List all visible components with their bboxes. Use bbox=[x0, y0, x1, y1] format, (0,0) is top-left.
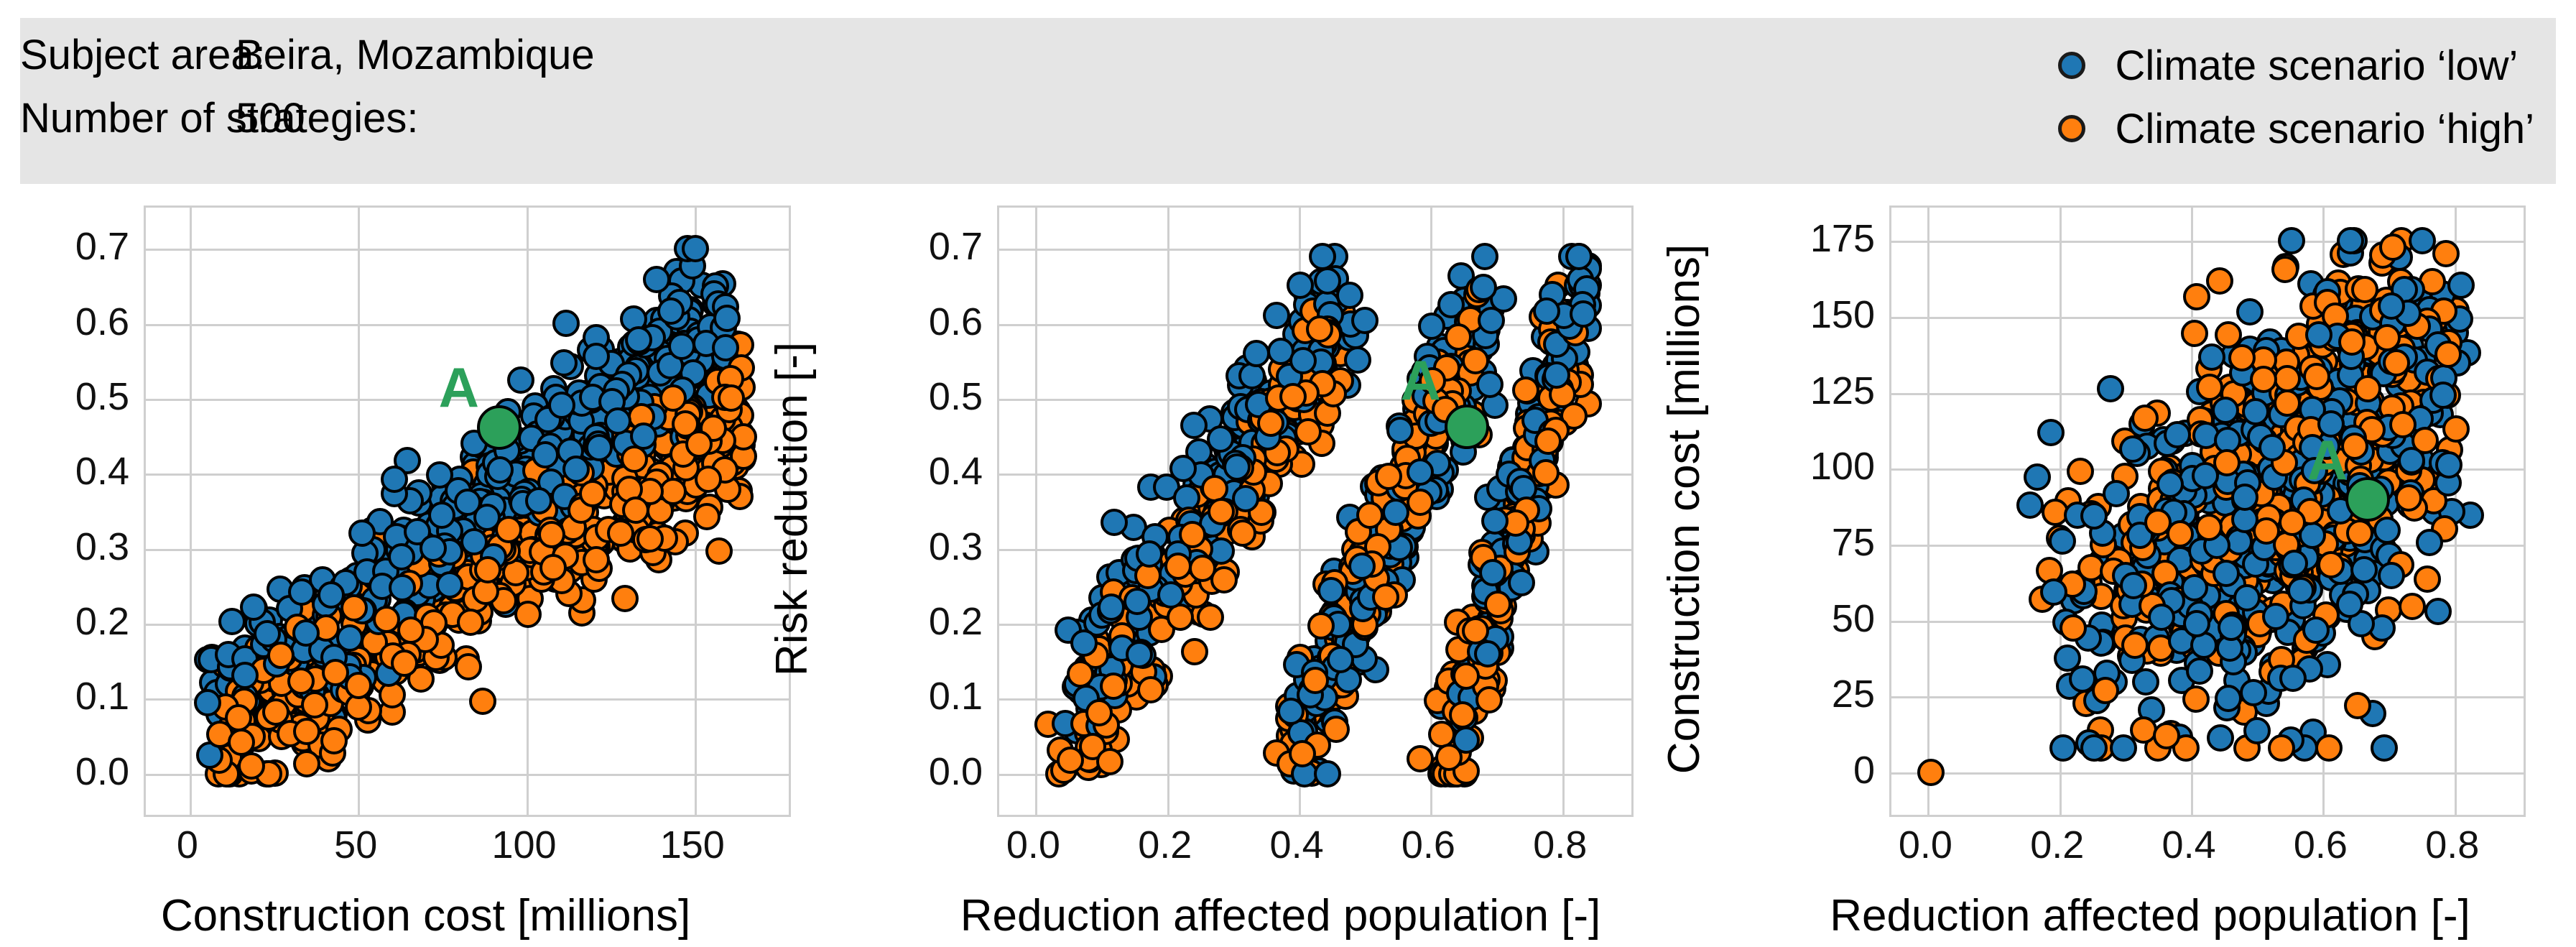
subject-info-block: Subject area: Beira, Mozambique Number o… bbox=[20, 31, 595, 157]
scatter-point bbox=[2181, 320, 2208, 347]
scatter-point bbox=[2167, 520, 2194, 548]
scatter-point bbox=[460, 528, 488, 555]
scatter-point bbox=[2186, 657, 2213, 685]
scatter-point bbox=[348, 519, 376, 547]
scatter-point bbox=[2432, 240, 2460, 267]
x-tick-label: 0 bbox=[177, 823, 198, 867]
plot-area-2: A bbox=[1889, 205, 2526, 817]
scatter-point bbox=[228, 729, 255, 756]
scatter-point bbox=[389, 574, 416, 601]
scatter-point bbox=[2279, 665, 2307, 692]
scatter-point bbox=[1478, 307, 1505, 334]
scatter-point bbox=[2303, 363, 2330, 390]
scatter-point bbox=[659, 384, 687, 412]
x-tick-label: 0.2 bbox=[2030, 823, 2084, 867]
scatter-point bbox=[2097, 375, 2124, 402]
scatter-point bbox=[2338, 328, 2366, 356]
scatter-point bbox=[2231, 484, 2258, 511]
scatter-point bbox=[1070, 629, 1098, 657]
scatter-point bbox=[657, 297, 685, 325]
y-tick-label: 175 bbox=[1810, 216, 1875, 261]
scatter-point bbox=[2371, 734, 2398, 762]
scatter-point bbox=[2110, 734, 2137, 762]
scatter-point bbox=[552, 310, 580, 337]
scatter-point bbox=[1085, 699, 1113, 726]
scatter-point bbox=[1418, 313, 1445, 340]
scatter-point bbox=[1157, 581, 1185, 609]
scatter-point bbox=[2243, 717, 2271, 744]
subject-area-label: Subject area: bbox=[20, 31, 236, 79]
y-tick-label: 0.2 bbox=[929, 599, 983, 644]
y-tick-label: 0.3 bbox=[75, 525, 129, 569]
scatter-point bbox=[2399, 593, 2426, 620]
scatter-point bbox=[1375, 463, 1402, 490]
y-tick-label: 100 bbox=[1810, 444, 1875, 489]
scatter-point bbox=[2218, 614, 2245, 641]
scatter-point bbox=[585, 434, 613, 461]
gridline-horizontal bbox=[1891, 772, 2524, 775]
scatter-point bbox=[1232, 485, 1259, 512]
scatter-point bbox=[2258, 434, 2286, 461]
scatter-point bbox=[1067, 660, 1094, 688]
plot-area-0: A bbox=[144, 205, 791, 817]
x-tick-label: 100 bbox=[491, 823, 556, 867]
scatter-point bbox=[292, 619, 320, 647]
scatter-point bbox=[1243, 340, 1270, 367]
scatter-point bbox=[2336, 591, 2363, 618]
scatter-point bbox=[1512, 377, 1539, 404]
scatter-point bbox=[320, 727, 348, 754]
scatter-point bbox=[2164, 421, 2191, 448]
scatter-point bbox=[1100, 673, 1127, 700]
scatter-point bbox=[583, 546, 610, 573]
x-axis-ticks-2: 0.00.20.40.60.8 bbox=[1889, 823, 2521, 880]
y-axis-ticks-1: 0.00.10.20.30.40.50.60.7 bbox=[825, 205, 983, 813]
scatter-point bbox=[2409, 227, 2436, 254]
scatter-point bbox=[2378, 292, 2405, 320]
scatter-point bbox=[1471, 243, 1498, 270]
scatter-point bbox=[457, 609, 484, 636]
scatter-point bbox=[1229, 519, 1256, 547]
scatter-point bbox=[685, 430, 713, 458]
scatter-point bbox=[2132, 668, 2159, 696]
scatter-point bbox=[2378, 562, 2405, 589]
scatter-point bbox=[2435, 451, 2463, 479]
scatter-point bbox=[682, 235, 709, 262]
legend: Climate scenario ‘low’ Climate scenario … bbox=[2058, 34, 2534, 160]
y-axis-ticks-0: 0.00.10.20.30.40.50.60.7 bbox=[0, 205, 129, 813]
scatter-point bbox=[322, 659, 349, 686]
scatter-point bbox=[2302, 616, 2330, 644]
scatter-point bbox=[2379, 234, 2406, 261]
scatter-point bbox=[2092, 677, 2119, 704]
subject-area-value: Beira, Mozambique bbox=[236, 31, 595, 79]
scatter-point bbox=[1534, 428, 1562, 455]
info-row-number-of-strategies: Number of strategies: 500 bbox=[20, 94, 595, 157]
scatter-point bbox=[1344, 346, 1371, 374]
scatter-point bbox=[1314, 760, 1341, 787]
y-tick-label: 0.6 bbox=[929, 300, 983, 344]
scatter-point bbox=[1327, 646, 1354, 673]
scatter-point bbox=[1287, 272, 1314, 299]
scatter-point bbox=[2315, 734, 2343, 762]
scatter-point bbox=[1565, 243, 1593, 270]
scatter-point bbox=[2103, 480, 2130, 507]
scatter-point bbox=[2240, 679, 2267, 706]
scatter-point bbox=[2395, 484, 2422, 512]
scatter-point bbox=[718, 384, 745, 412]
scatter-point bbox=[1533, 297, 1560, 325]
scatter-point bbox=[2120, 572, 2147, 599]
scatter-point bbox=[2148, 604, 2175, 631]
scatter-point bbox=[1314, 267, 1341, 295]
scatter-point bbox=[625, 326, 652, 354]
y-tick-label: 0.5 bbox=[75, 374, 129, 419]
y-tick-label: 125 bbox=[1810, 369, 1875, 413]
scatter-point bbox=[238, 752, 265, 780]
scatter-point bbox=[1481, 507, 1509, 535]
scatter-point bbox=[2268, 734, 2295, 762]
scatter-point bbox=[1435, 744, 1463, 771]
strategy-a-label: A bbox=[2307, 432, 2348, 488]
y-tick-label: 0.1 bbox=[75, 674, 129, 719]
x-tick-label: 0.6 bbox=[1401, 823, 1455, 867]
scatter-point bbox=[550, 349, 578, 377]
scatter-point bbox=[1474, 640, 1501, 667]
x-axis-label-1: Reduction affected population [-] bbox=[855, 890, 1706, 941]
scatter-point bbox=[2212, 397, 2239, 424]
scatter-point bbox=[2198, 343, 2225, 371]
x-tick-label: 50 bbox=[334, 823, 377, 867]
scatter-point bbox=[2196, 374, 2223, 401]
scatter-point bbox=[1279, 383, 1307, 410]
scatter-point bbox=[1257, 410, 1284, 437]
y-axis-ticks-2: 0255075100125150175 bbox=[1717, 205, 1875, 813]
scatter-point bbox=[1470, 274, 1497, 301]
scatter-point bbox=[1449, 701, 1476, 729]
scatter-point bbox=[2080, 734, 2108, 762]
scatter-point bbox=[2442, 415, 2470, 443]
scatter-point bbox=[2183, 610, 2210, 637]
scatter-point bbox=[2373, 517, 2401, 544]
scatter-point bbox=[2183, 283, 2210, 310]
scatter-point bbox=[1351, 307, 1379, 334]
scatter-point bbox=[2156, 471, 2184, 498]
scatter-point bbox=[1169, 455, 1197, 482]
scatter-point bbox=[2337, 227, 2364, 254]
plot-area-1: A bbox=[997, 205, 1634, 817]
scatter-point bbox=[1407, 489, 1434, 516]
scatter-point bbox=[1386, 417, 1414, 444]
scatter-point bbox=[1164, 553, 1192, 580]
strategy-a-label: A bbox=[1400, 352, 1440, 408]
scatter-point bbox=[1302, 667, 1329, 694]
scatter-point bbox=[2016, 491, 2044, 519]
scatter-point bbox=[1484, 591, 1511, 618]
scatter-point bbox=[2262, 603, 2289, 630]
scatter-point bbox=[1453, 662, 1480, 690]
gridline-vertical bbox=[1167, 208, 1169, 815]
scatter-point bbox=[1382, 499, 1409, 526]
scatter-point bbox=[1189, 555, 1216, 582]
scatter-point bbox=[1508, 569, 1535, 596]
scatter-point bbox=[1445, 323, 1472, 351]
scatter-point bbox=[622, 496, 649, 524]
scatter-point bbox=[2206, 267, 2233, 295]
scatter-point bbox=[2424, 598, 2452, 625]
scatter-point bbox=[2281, 550, 2308, 577]
scatter-point bbox=[659, 478, 687, 505]
scatter-point bbox=[1208, 498, 1235, 525]
scatter-point bbox=[705, 537, 733, 565]
scatter-point bbox=[2213, 449, 2241, 476]
scatter-point bbox=[388, 543, 415, 570]
scatter-point bbox=[231, 662, 259, 689]
scatter-point bbox=[1462, 347, 1489, 374]
x-tick-label: 0.2 bbox=[1138, 823, 1192, 867]
scatter-point bbox=[2434, 341, 2462, 368]
x-axis-ticks-1: 0.00.20.40.60.8 bbox=[997, 823, 1629, 880]
scatter-point bbox=[2416, 529, 2443, 556]
scatter-point bbox=[293, 718, 320, 745]
scatter-point bbox=[2080, 502, 2108, 530]
header-band: Subject area: Beira, Mozambique Number o… bbox=[20, 18, 2556, 184]
scatter-point bbox=[636, 525, 664, 553]
scatter-point bbox=[1263, 302, 1290, 329]
scatter-point bbox=[2274, 365, 2301, 392]
scatter-point bbox=[2207, 724, 2234, 752]
scatter-point bbox=[2121, 632, 2149, 659]
scatter-point bbox=[2279, 509, 2306, 536]
scatter-point bbox=[1126, 641, 1153, 668]
circle-marker-icon-low bbox=[2058, 52, 2085, 79]
number-of-strategies-label: Number of strategies: bbox=[20, 94, 236, 142]
scatter-point bbox=[1207, 425, 1234, 453]
legend-label-low: Climate scenario ‘low’ bbox=[2116, 42, 2519, 90]
info-row-subject-area: Subject area: Beira, Mozambique bbox=[20, 31, 595, 94]
scatter-point bbox=[668, 333, 695, 360]
y-tick-label: 0.0 bbox=[929, 749, 983, 794]
scatter-point bbox=[486, 456, 514, 484]
scatter-point bbox=[262, 698, 289, 726]
legend-item-high: Climate scenario ‘high’ bbox=[2058, 97, 2534, 160]
scatter-point bbox=[2414, 565, 2441, 593]
scatter-point bbox=[2182, 685, 2210, 713]
scatter-point bbox=[2153, 722, 2180, 749]
strategy-a-point bbox=[1445, 405, 1489, 449]
x-tick-label: 0.0 bbox=[1899, 823, 1952, 867]
scatter-point bbox=[1532, 459, 1560, 486]
x-tick-label: 0.4 bbox=[1270, 823, 1324, 867]
scatter-point bbox=[2049, 527, 2076, 555]
y-tick-label: 0.1 bbox=[929, 674, 983, 719]
scatter-point bbox=[428, 502, 455, 529]
scatter-point bbox=[2271, 256, 2299, 283]
scatter-point bbox=[287, 667, 315, 695]
scatter-point bbox=[2398, 447, 2425, 474]
scatter-point bbox=[1289, 347, 1317, 374]
scatter-panel-population-vs-cost: Construction cost [millions] 02550751001… bbox=[1724, 184, 2576, 947]
scatter-point bbox=[1348, 553, 1376, 580]
scatter-point bbox=[2215, 685, 2242, 712]
scatter-point bbox=[1289, 740, 1316, 767]
x-axis-label-2: Reduction affected population [-] bbox=[1724, 890, 2576, 941]
scatter-point bbox=[2067, 458, 2094, 485]
scatter-point bbox=[2346, 519, 2373, 547]
x-tick-label: 0.8 bbox=[2425, 823, 2479, 867]
scatter-point bbox=[1475, 686, 1503, 713]
scatter-point bbox=[1101, 509, 1128, 536]
scatter-point bbox=[218, 608, 246, 635]
scatter-point bbox=[611, 585, 639, 612]
scatter-point bbox=[436, 571, 463, 599]
x-axis-label-0: Construction cost [millions] bbox=[0, 890, 851, 941]
x-tick-label: 0.4 bbox=[2162, 823, 2216, 867]
strategy-a-label: A bbox=[439, 359, 479, 415]
scatter-point bbox=[1180, 412, 1208, 439]
scatter-point bbox=[301, 691, 328, 719]
scatter-point bbox=[1570, 300, 1597, 328]
scatter-point bbox=[454, 489, 481, 516]
scatter-point bbox=[420, 535, 447, 562]
scatter-point bbox=[1098, 593, 1125, 621]
y-tick-label: 75 bbox=[1832, 520, 1875, 565]
scatter-point bbox=[293, 750, 320, 777]
x-tick-label: 0.0 bbox=[1006, 823, 1060, 867]
scatter-point bbox=[2383, 349, 2410, 377]
scatter-point bbox=[1356, 502, 1384, 529]
scatter-point bbox=[2037, 419, 2065, 446]
scatter-point bbox=[391, 650, 418, 677]
scatter-point bbox=[194, 689, 221, 716]
scatter-point bbox=[2253, 517, 2280, 545]
x-tick-label: 150 bbox=[660, 823, 725, 867]
y-tick-label: 0 bbox=[1853, 748, 1875, 793]
scatter-point bbox=[2354, 375, 2381, 402]
y-axis-label-1: Risk reduction [-] bbox=[760, 205, 825, 813]
scatter-point bbox=[2350, 556, 2378, 583]
scatter-point bbox=[2213, 560, 2240, 587]
y-tick-label: 0.3 bbox=[929, 525, 983, 569]
scatter-point bbox=[2278, 227, 2305, 254]
y-tick-label: 0.7 bbox=[929, 224, 983, 269]
scatter-point bbox=[2317, 551, 2345, 578]
circle-marker-icon-high bbox=[2058, 115, 2085, 142]
scatter-point bbox=[381, 466, 408, 493]
scatter-point bbox=[693, 503, 721, 530]
y-tick-label: 25 bbox=[1832, 672, 1875, 716]
scatter-point bbox=[2054, 645, 2081, 672]
scatter-point bbox=[2040, 578, 2067, 606]
y-tick-label: 50 bbox=[1832, 596, 1875, 641]
scatter-point bbox=[1306, 315, 1333, 343]
y-tick-label: 0.7 bbox=[75, 224, 129, 269]
y-tick-label: 0.5 bbox=[929, 374, 983, 419]
scatter-point bbox=[2250, 366, 2277, 393]
y-axis-label-2: Construction cost [millions] bbox=[1652, 205, 1717, 813]
scatter-point bbox=[525, 487, 552, 514]
scatter-point bbox=[1543, 361, 1570, 389]
scatter-point bbox=[2447, 272, 2475, 299]
x-tick-label: 0.6 bbox=[2294, 823, 2348, 867]
scatter-point bbox=[712, 334, 739, 361]
scatter-point bbox=[1307, 612, 1335, 639]
scatter-point bbox=[2049, 734, 2077, 762]
scatter-point bbox=[583, 343, 610, 370]
scatter-point bbox=[2024, 463, 2051, 491]
scatter-point bbox=[2287, 577, 2315, 604]
scatter-point bbox=[2060, 614, 2087, 642]
number-of-strategies-value: 500 bbox=[236, 94, 305, 142]
scatter-point bbox=[2274, 389, 2301, 417]
scatter-point bbox=[469, 688, 496, 715]
scatter-point bbox=[713, 305, 741, 332]
x-axis-ticks-0: 050100150 bbox=[144, 823, 787, 880]
scatter-point bbox=[267, 642, 295, 669]
scatter-point bbox=[532, 441, 559, 468]
scatter-point bbox=[562, 456, 590, 483]
legend-label-high: Climate scenario ‘high’ bbox=[2116, 105, 2534, 153]
scatter-point bbox=[397, 616, 425, 644]
scatter-point bbox=[538, 521, 565, 548]
scatter-point bbox=[2242, 398, 2269, 425]
scatter-point bbox=[1317, 577, 1345, 604]
y-tick-label: 0.2 bbox=[75, 599, 129, 644]
legend-item-low: Climate scenario ‘low’ bbox=[2058, 34, 2534, 97]
scatter-point bbox=[474, 556, 501, 583]
scatter-point bbox=[621, 445, 648, 473]
strategy-a-point bbox=[2345, 477, 2390, 522]
scatter-point bbox=[1372, 583, 1399, 611]
scatter-point bbox=[2195, 514, 2223, 541]
scatter-point bbox=[1223, 453, 1251, 481]
scatter-point bbox=[2344, 692, 2371, 719]
scatter-point bbox=[2119, 435, 2146, 463]
scatter-point bbox=[2389, 411, 2417, 438]
scatter-point bbox=[1096, 748, 1123, 775]
scatter-point bbox=[548, 392, 575, 419]
strategy-a-point bbox=[477, 405, 522, 450]
scatter-point bbox=[1137, 676, 1164, 703]
scatter-point bbox=[514, 601, 542, 628]
scatter-point bbox=[507, 366, 534, 394]
scatter-point bbox=[345, 672, 372, 699]
gridline-vertical bbox=[1927, 208, 1929, 815]
y-tick-label: 0.4 bbox=[929, 449, 983, 494]
y-tick-label: 150 bbox=[1810, 292, 1875, 337]
scatter-point bbox=[2181, 574, 2208, 601]
scatter-point bbox=[539, 554, 567, 581]
scatter-point bbox=[1136, 540, 1163, 568]
scatter-panel-construction-cost-vs-risk: Risk reduction [-] 0.00.10.20.30.40.50.6… bbox=[0, 184, 851, 947]
scatter-point bbox=[607, 519, 634, 547]
scatter-point bbox=[1123, 588, 1151, 615]
scatter-point bbox=[1179, 521, 1206, 548]
scatter-point bbox=[2236, 298, 2264, 325]
scatter-point bbox=[2131, 405, 2159, 432]
scatter-point bbox=[455, 653, 482, 680]
scatter-point bbox=[1057, 747, 1084, 774]
scatter-point bbox=[643, 266, 670, 293]
y-tick-label: 0.0 bbox=[75, 749, 129, 794]
scatter-point bbox=[2233, 584, 2261, 611]
gridline-vertical bbox=[190, 208, 192, 815]
scatter-point bbox=[1181, 638, 1208, 665]
scatter-point bbox=[2429, 382, 2457, 409]
scatter-panel-population-vs-risk: Risk reduction [-] 0.00.10.20.30.40.50.6… bbox=[855, 184, 1706, 947]
scatter-point bbox=[2305, 321, 2332, 348]
y-tick-label: 0.4 bbox=[75, 449, 129, 494]
